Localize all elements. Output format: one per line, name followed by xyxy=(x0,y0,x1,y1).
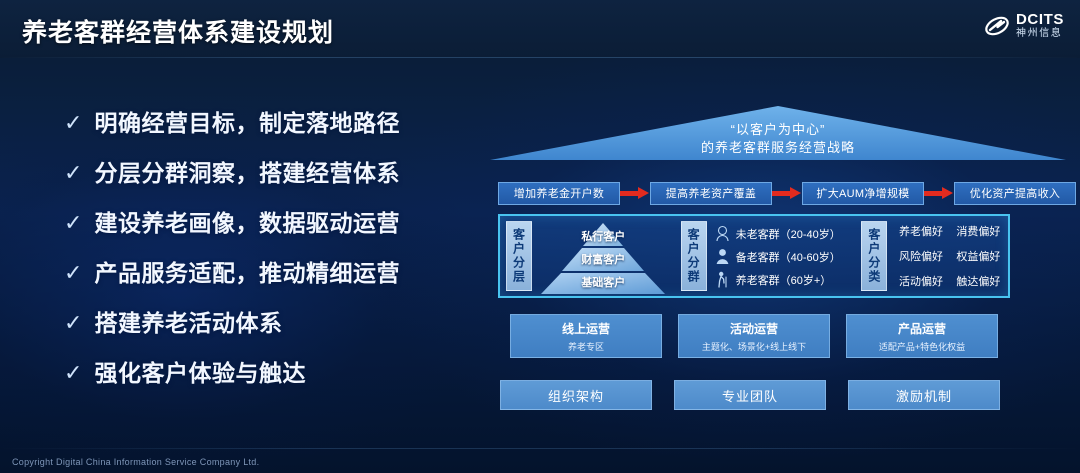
preference-item: 活动偏好 xyxy=(895,273,946,289)
arrow-right-icon xyxy=(924,187,954,199)
list-item-label: 产品服务适配，推动精细运营 xyxy=(94,254,400,288)
classification-column: 养老偏好 消费偏好 风险偏好 权益偏好 活动偏好 触达偏好 xyxy=(887,216,1008,296)
group-label-3: 养老客群（60岁+） xyxy=(736,272,832,288)
arrow-shaft xyxy=(620,191,640,196)
operation-title: 产品运营 xyxy=(898,320,946,337)
list-item: ✓ 明确经营目标，制定落地路径 xyxy=(64,104,464,138)
brand-logo: DCITS 神州信息 xyxy=(984,12,1064,39)
arrow-head xyxy=(942,187,953,199)
copyright-text: Copyright Digital China Information Serv… xyxy=(12,457,259,467)
preference-item: 风险偏好 xyxy=(895,248,946,264)
list-item-label: 强化客户体验与触达 xyxy=(94,354,306,388)
operation-subtitle: 主题化、场景化+线上线下 xyxy=(702,340,806,353)
list-item: ✓ 强化客户体验与触达 xyxy=(64,354,464,388)
list-item: 备老客群（40-60岁） xyxy=(715,245,856,268)
preference-item: 权益偏好 xyxy=(953,248,1004,264)
young-person-icon xyxy=(715,225,730,242)
foundation-bar-incentive[interactable]: 激励机制 xyxy=(848,380,1000,410)
list-item: ✓ 产品服务适配，推动精细运营 xyxy=(64,254,464,288)
arrow-head xyxy=(790,187,801,199)
arrow-shaft xyxy=(924,191,944,196)
list-item: 未老客群（20-40岁） xyxy=(715,222,856,245)
operation-card-online[interactable]: 线上运营 养老专区 xyxy=(510,314,662,358)
operation-card-product[interactable]: 产品运营 适配产品+特色化权益 xyxy=(846,314,998,358)
slide-root: 养老客群经营体系建设规划 DCITS 神州信息 ✓ 明确经营目标，制定落地路径 … xyxy=(0,0,1080,473)
customer-group-list: 未老客群（20-40岁） 备老客群（40-60岁） xyxy=(707,216,856,291)
list-item-label: 分层分群洞察，搭建经营体系 xyxy=(94,154,400,188)
customer-segmentation-panel: 客户分层 xyxy=(498,214,1010,298)
group-label-1: 未老客群（20-40岁） xyxy=(736,226,841,242)
check-icon: ✓ xyxy=(64,112,82,134)
list-item-label: 建设养老画像，数据驱动运营 xyxy=(94,204,400,238)
goal-box-3[interactable]: 扩大AUM净增规模 xyxy=(802,182,924,205)
goal-box-2[interactable]: 提高养老资产覆盖 xyxy=(650,182,772,205)
foundation-bar-org[interactable]: 组织架构 xyxy=(500,380,652,410)
list-item: ✓ 建设养老画像，数据驱动运营 xyxy=(64,204,464,238)
operation-title: 线上运营 xyxy=(562,320,610,337)
list-item: ✓ 搭建养老活动体系 xyxy=(64,304,464,338)
operation-title: 活动运营 xyxy=(730,320,778,337)
strategy-roof: “以客户为中心” 的养老客群服务经营战略 xyxy=(488,92,1068,164)
foundation-bar-team[interactable]: 专业团队 xyxy=(674,380,826,410)
tier-label-3: 基础客户 xyxy=(539,274,667,290)
operation-card-activity[interactable]: 活动运营 主题化、场景化+线上线下 xyxy=(678,314,830,358)
check-icon: ✓ xyxy=(64,162,82,184)
list-item-label: 明确经营目标，制定落地路径 xyxy=(94,104,400,138)
arrow-right-icon xyxy=(620,187,650,199)
dcits-swoosh-icon xyxy=(984,13,1010,39)
goal-box-4[interactable]: 优化资产提高收入 xyxy=(954,182,1076,205)
check-icon: ✓ xyxy=(64,312,82,334)
tier-label-1: 私行客户 xyxy=(539,228,667,244)
adult-person-icon xyxy=(715,248,730,265)
roof-line-2: 的养老客群服务经营战略 xyxy=(488,139,1068,157)
group-label-2: 备老客群（40-60岁） xyxy=(736,249,841,265)
preference-grid: 养老偏好 消费偏好 风险偏好 权益偏好 活动偏好 触达偏好 xyxy=(887,216,1008,289)
goal-chain: 增加养老金开户数 提高养老资产覆盖 扩大AUM净增规模 优化资产提高收入 xyxy=(498,181,1060,205)
preference-item: 触达偏好 xyxy=(953,273,1004,289)
check-icon: ✓ xyxy=(64,262,82,284)
header-divider xyxy=(0,57,1080,58)
arrow-head xyxy=(638,187,649,199)
roof-line-1: “以客户为中心” xyxy=(488,121,1068,139)
list-item: 养老客群（60岁+） xyxy=(715,268,856,291)
elderly-person-with-cane-icon xyxy=(715,271,730,288)
strategy-diagram: “以客户为中心” 的养老客群服务经营战略 增加养老金开户数 提高养老资产覆盖 扩… xyxy=(488,92,1068,432)
classification-vertical-label: 客户分类 xyxy=(861,221,887,291)
brand-wordmark: DCITS 神州信息 xyxy=(1016,12,1064,39)
check-icon: ✓ xyxy=(64,362,82,384)
list-item-label: 搭建养老活动体系 xyxy=(94,304,282,338)
tier-label-2: 财富客户 xyxy=(539,251,667,267)
operation-subtitle: 养老专区 xyxy=(568,340,604,353)
grouping-column: 未老客群（20-40岁） 备老客群（40-60岁） xyxy=(707,216,856,296)
tiering-column: 私行客户 财富客户 基础客户 xyxy=(532,216,675,296)
goal-box-1[interactable]: 增加养老金开户数 xyxy=(498,182,620,205)
tiering-vertical-label: 客户分层 xyxy=(506,221,532,291)
customer-tier-pyramid: 私行客户 财富客户 基础客户 xyxy=(539,221,667,295)
list-item: ✓ 分层分群洞察，搭建经营体系 xyxy=(64,154,464,188)
operation-subtitle: 适配产品+特色化权益 xyxy=(879,340,965,353)
footer-divider xyxy=(0,448,1080,449)
strategy-roof-text: “以客户为中心” 的养老客群服务经营战略 xyxy=(488,121,1068,156)
brand-name-en: DCITS xyxy=(1016,12,1064,27)
operations-row: 线上运营 养老专区 活动运营 主题化、场景化+线上线下 产品运营 适配产品+特色… xyxy=(510,314,998,358)
page-title: 养老客群经营体系建设规划 xyxy=(22,13,334,49)
arrow-right-icon xyxy=(772,187,802,199)
arrow-shaft xyxy=(772,191,792,196)
preference-item: 养老偏好 xyxy=(895,223,946,239)
grouping-vertical-label: 客户分群 xyxy=(681,221,707,291)
check-icon: ✓ xyxy=(64,212,82,234)
brand-name-cn: 神州信息 xyxy=(1016,29,1064,39)
key-points-list: ✓ 明确经营目标，制定落地路径 ✓ 分层分群洞察，搭建经营体系 ✓ 建设养老画像… xyxy=(64,104,464,404)
preference-item: 消费偏好 xyxy=(953,223,1004,239)
foundation-row: 组织架构 专业团队 激励机制 xyxy=(500,380,1000,410)
